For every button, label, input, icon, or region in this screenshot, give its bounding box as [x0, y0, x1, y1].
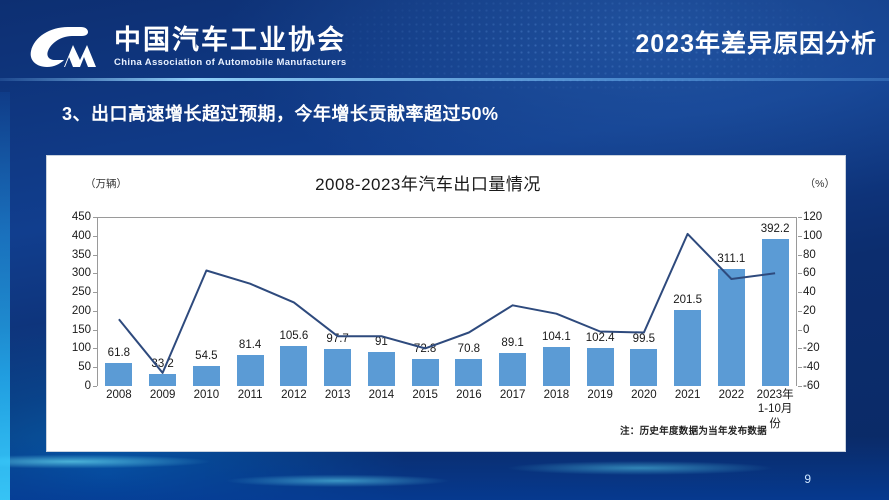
- x-tick-label: 2013: [316, 388, 360, 402]
- x-tick-label: 2020: [622, 388, 666, 402]
- y-tick-left: 200: [72, 305, 91, 317]
- page-number: 9: [804, 472, 811, 486]
- org-name-en: China Association of Automobile Manufact…: [114, 57, 347, 68]
- x-tick-label: 2014: [360, 388, 404, 402]
- header-divider: [0, 78, 889, 81]
- org-name-cn: 中国汽车工业协会: [114, 26, 347, 54]
- growth-rate-line-series: [97, 217, 797, 386]
- y-tick-right: 20: [803, 305, 816, 317]
- x-tick-label: 2017: [491, 388, 535, 402]
- y-tick-mark-right: [798, 273, 802, 274]
- y-tick-right: 80: [803, 249, 816, 261]
- x-tick-label: 2018: [535, 388, 579, 402]
- y-tick-right: -40: [803, 361, 820, 373]
- x-axis-labels: 2008200920102011201220132014201520162017…: [97, 388, 797, 428]
- y-tick-mark-right: [798, 386, 802, 387]
- chart-footnote: 注：历史年度数据为当年发布数据: [620, 423, 767, 437]
- y-tick-left: 250: [72, 286, 91, 298]
- cam-logo-icon: [28, 24, 102, 70]
- y-tick-right: 40: [803, 286, 816, 298]
- y-tick-left: 350: [72, 249, 91, 261]
- y-tick-mark-right: [798, 311, 802, 312]
- growth-rate-line: [119, 234, 775, 373]
- chart-title-text: 2008-2023年汽车出口量情况: [315, 170, 541, 195]
- y-tick-left: 300: [72, 267, 91, 279]
- presentation-title: 2023年差异原因分析: [635, 24, 877, 60]
- y-tick-left: 0: [85, 380, 91, 392]
- y-tick-right: -60: [803, 380, 820, 392]
- y-tick-left: 100: [72, 342, 91, 354]
- x-tick-label: 2009: [141, 388, 185, 402]
- y-tick-mark-right: [798, 217, 802, 218]
- x-tick-label: 2022: [710, 388, 754, 402]
- y-tick-left: 150: [72, 324, 91, 336]
- y-tick-mark-right: [798, 236, 802, 237]
- x-tick-label: 2015: [403, 388, 447, 402]
- x-tick-label: 2012: [272, 388, 316, 402]
- chart-plot-area: 450400350300250200150100500 120100806040…: [97, 217, 797, 386]
- y-tick-left: 50: [78, 361, 91, 373]
- x-tick-label: 2021: [666, 388, 710, 402]
- y-tick-mark-right: [798, 348, 802, 349]
- x-tick-label: 2019: [578, 388, 622, 402]
- chart-title: 2008-2023年汽车出口量情况: [47, 170, 845, 195]
- x-tick-label: 2008: [97, 388, 141, 402]
- y-tick-right: 120: [803, 211, 822, 223]
- y-tick-right: 100: [803, 230, 822, 242]
- y-tick-mark-right: [798, 255, 802, 256]
- y-tick-left: 450: [72, 211, 91, 223]
- y-tick-mark-right: [798, 330, 802, 331]
- x-tick-label: 2016: [447, 388, 491, 402]
- x-tick-label: 2010: [185, 388, 229, 402]
- chart-card: （万辆） （%） 2008-2023年汽车出口量情况 4504003503002…: [46, 155, 846, 452]
- organization-logo: 中国汽车工业协会 China Association of Automobile…: [28, 24, 347, 70]
- slide-header: 中国汽车工业协会 China Association of Automobile…: [0, 0, 889, 85]
- y-tick-right: 0: [803, 324, 809, 336]
- x-tick-label: 2011: [228, 388, 272, 402]
- y-tick-mark-right: [798, 367, 802, 368]
- y-tick-right: 60: [803, 267, 816, 279]
- left-edge-glow: [0, 92, 10, 500]
- section-heading: 3、出口高速增长超过预期，今年增长贡献率超过50%: [62, 100, 499, 126]
- y-tick-left: 400: [72, 230, 91, 242]
- y-tick-mark-left: [93, 386, 97, 387]
- y-tick-mark-right: [798, 292, 802, 293]
- y-tick-right: -20: [803, 342, 820, 354]
